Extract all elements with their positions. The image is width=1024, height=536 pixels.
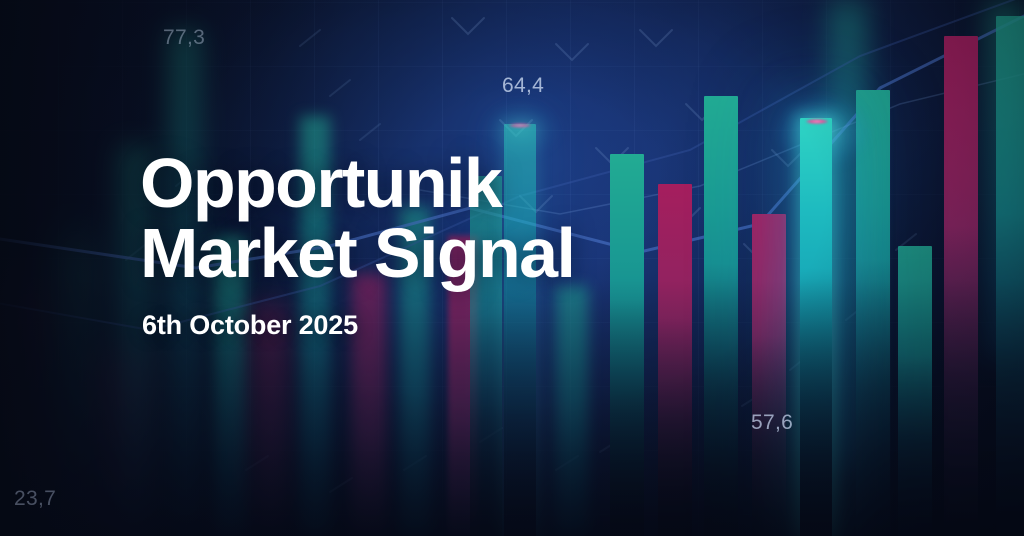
bar-highlight-bright: [800, 118, 832, 536]
bar-bg: [62, 236, 92, 536]
page-title-line-1: Opportunik: [140, 144, 501, 222]
bar-magenta: [944, 36, 978, 536]
bar-bg: [986, 0, 1024, 360]
page-title: Opportunik Market Signal: [140, 148, 574, 288]
value-label-64-4: 64,4: [502, 74, 544, 98]
bar-bg: [828, 0, 868, 470]
value-label-77-3: 77,3: [163, 26, 205, 50]
bar-teal: [996, 16, 1024, 536]
banner-date: 6th October 2025: [142, 310, 574, 341]
bar-teal: [610, 154, 644, 536]
value-label-57-6: 57,6: [751, 411, 793, 435]
bar-magenta: [658, 184, 692, 536]
page-title-line-2: Market Signal: [140, 218, 574, 288]
market-signal-banner: 77,3 64,4 57,6 23,7 Opportunik Market Si…: [0, 0, 1024, 536]
bar-bg: [108, 356, 142, 536]
glow-cap-dot: [806, 119, 828, 124]
bar-magenta: [752, 214, 786, 536]
bar-teal: [856, 90, 890, 536]
glow-halo: [778, 96, 870, 166]
bar-teal: [704, 96, 738, 536]
bar-teal: [898, 246, 932, 536]
glow-cap-dot: [509, 123, 531, 128]
value-label-23-7: 23,7: [14, 487, 56, 511]
banner-copy: Opportunik Market Signal 6th October 202…: [140, 148, 574, 341]
